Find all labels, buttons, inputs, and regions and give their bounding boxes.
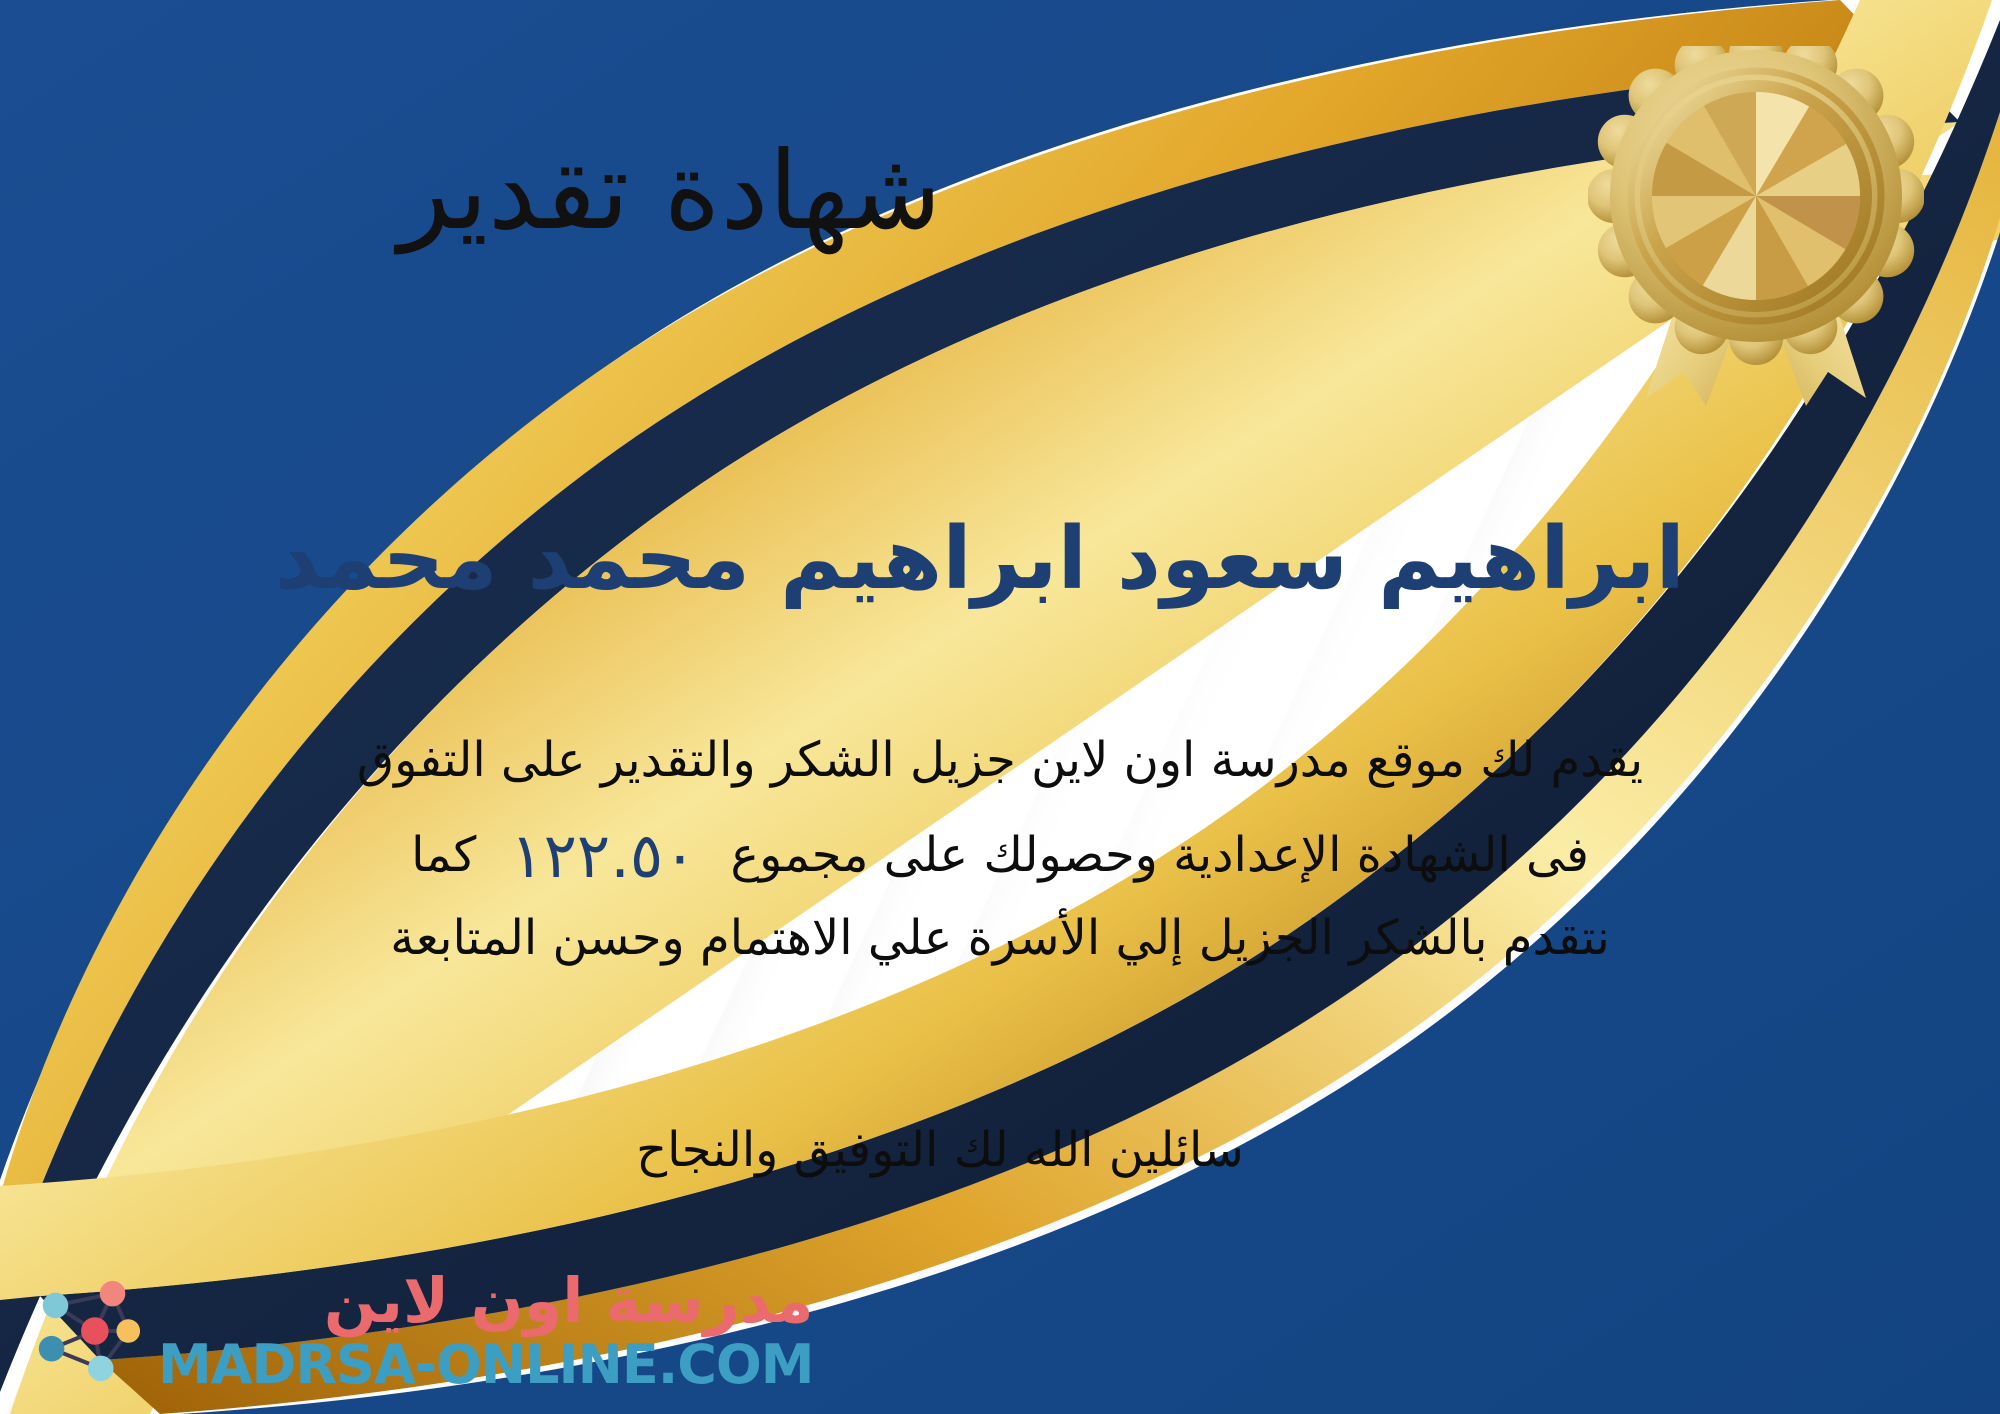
page-title: شهادة تقدير [0, 128, 1340, 255]
recipient-name: ابراهيم سعود ابراهيم محمد محمد [0, 508, 1960, 611]
body-line-2-left: كما [411, 817, 476, 895]
brand-text: مدرسة اون لاين MADRSA-ONLINE.COM [158, 1270, 814, 1392]
brand-logo[interactable]: مدرسة اون لاين MADRSA-ONLINE.COM [26, 1270, 814, 1392]
brand-website: MADRSA-ONLINE.COM [158, 1338, 814, 1392]
brand-arabic-name: مدرسة اون لاين [324, 1270, 814, 1332]
body-line-3: نتقدم بالشكر الجزيل إلي الأسرة علي الاهت… [40, 900, 1960, 978]
total-score-value: ١٢٢.٥٠ [476, 806, 730, 906]
network-nodes-icon [26, 1272, 144, 1390]
body-line-2-right: فى الشهادة الإعدادية وحصولك على مجموع [731, 817, 1589, 895]
closing-wish-line: سائلين الله لك التوفيق والنجاح [0, 1122, 1880, 1178]
body-line-1: يقدم لك موقع مدرسة اون لاين جزيل الشكر و… [40, 722, 1960, 800]
body-text-block: يقدم لك موقع مدرسة اون لاين جزيل الشكر و… [40, 722, 1960, 978]
body-line-2: فى الشهادة الإعدادية وحصولك على مجموع ١٢… [40, 800, 1960, 900]
certificate-canvas: شهادة تقدير ابراهيم سعود ابراهيم محمد مح… [0, 0, 2000, 1414]
certificate-content: شهادة تقدير ابراهيم سعود ابراهيم محمد مح… [0, 0, 2000, 1414]
